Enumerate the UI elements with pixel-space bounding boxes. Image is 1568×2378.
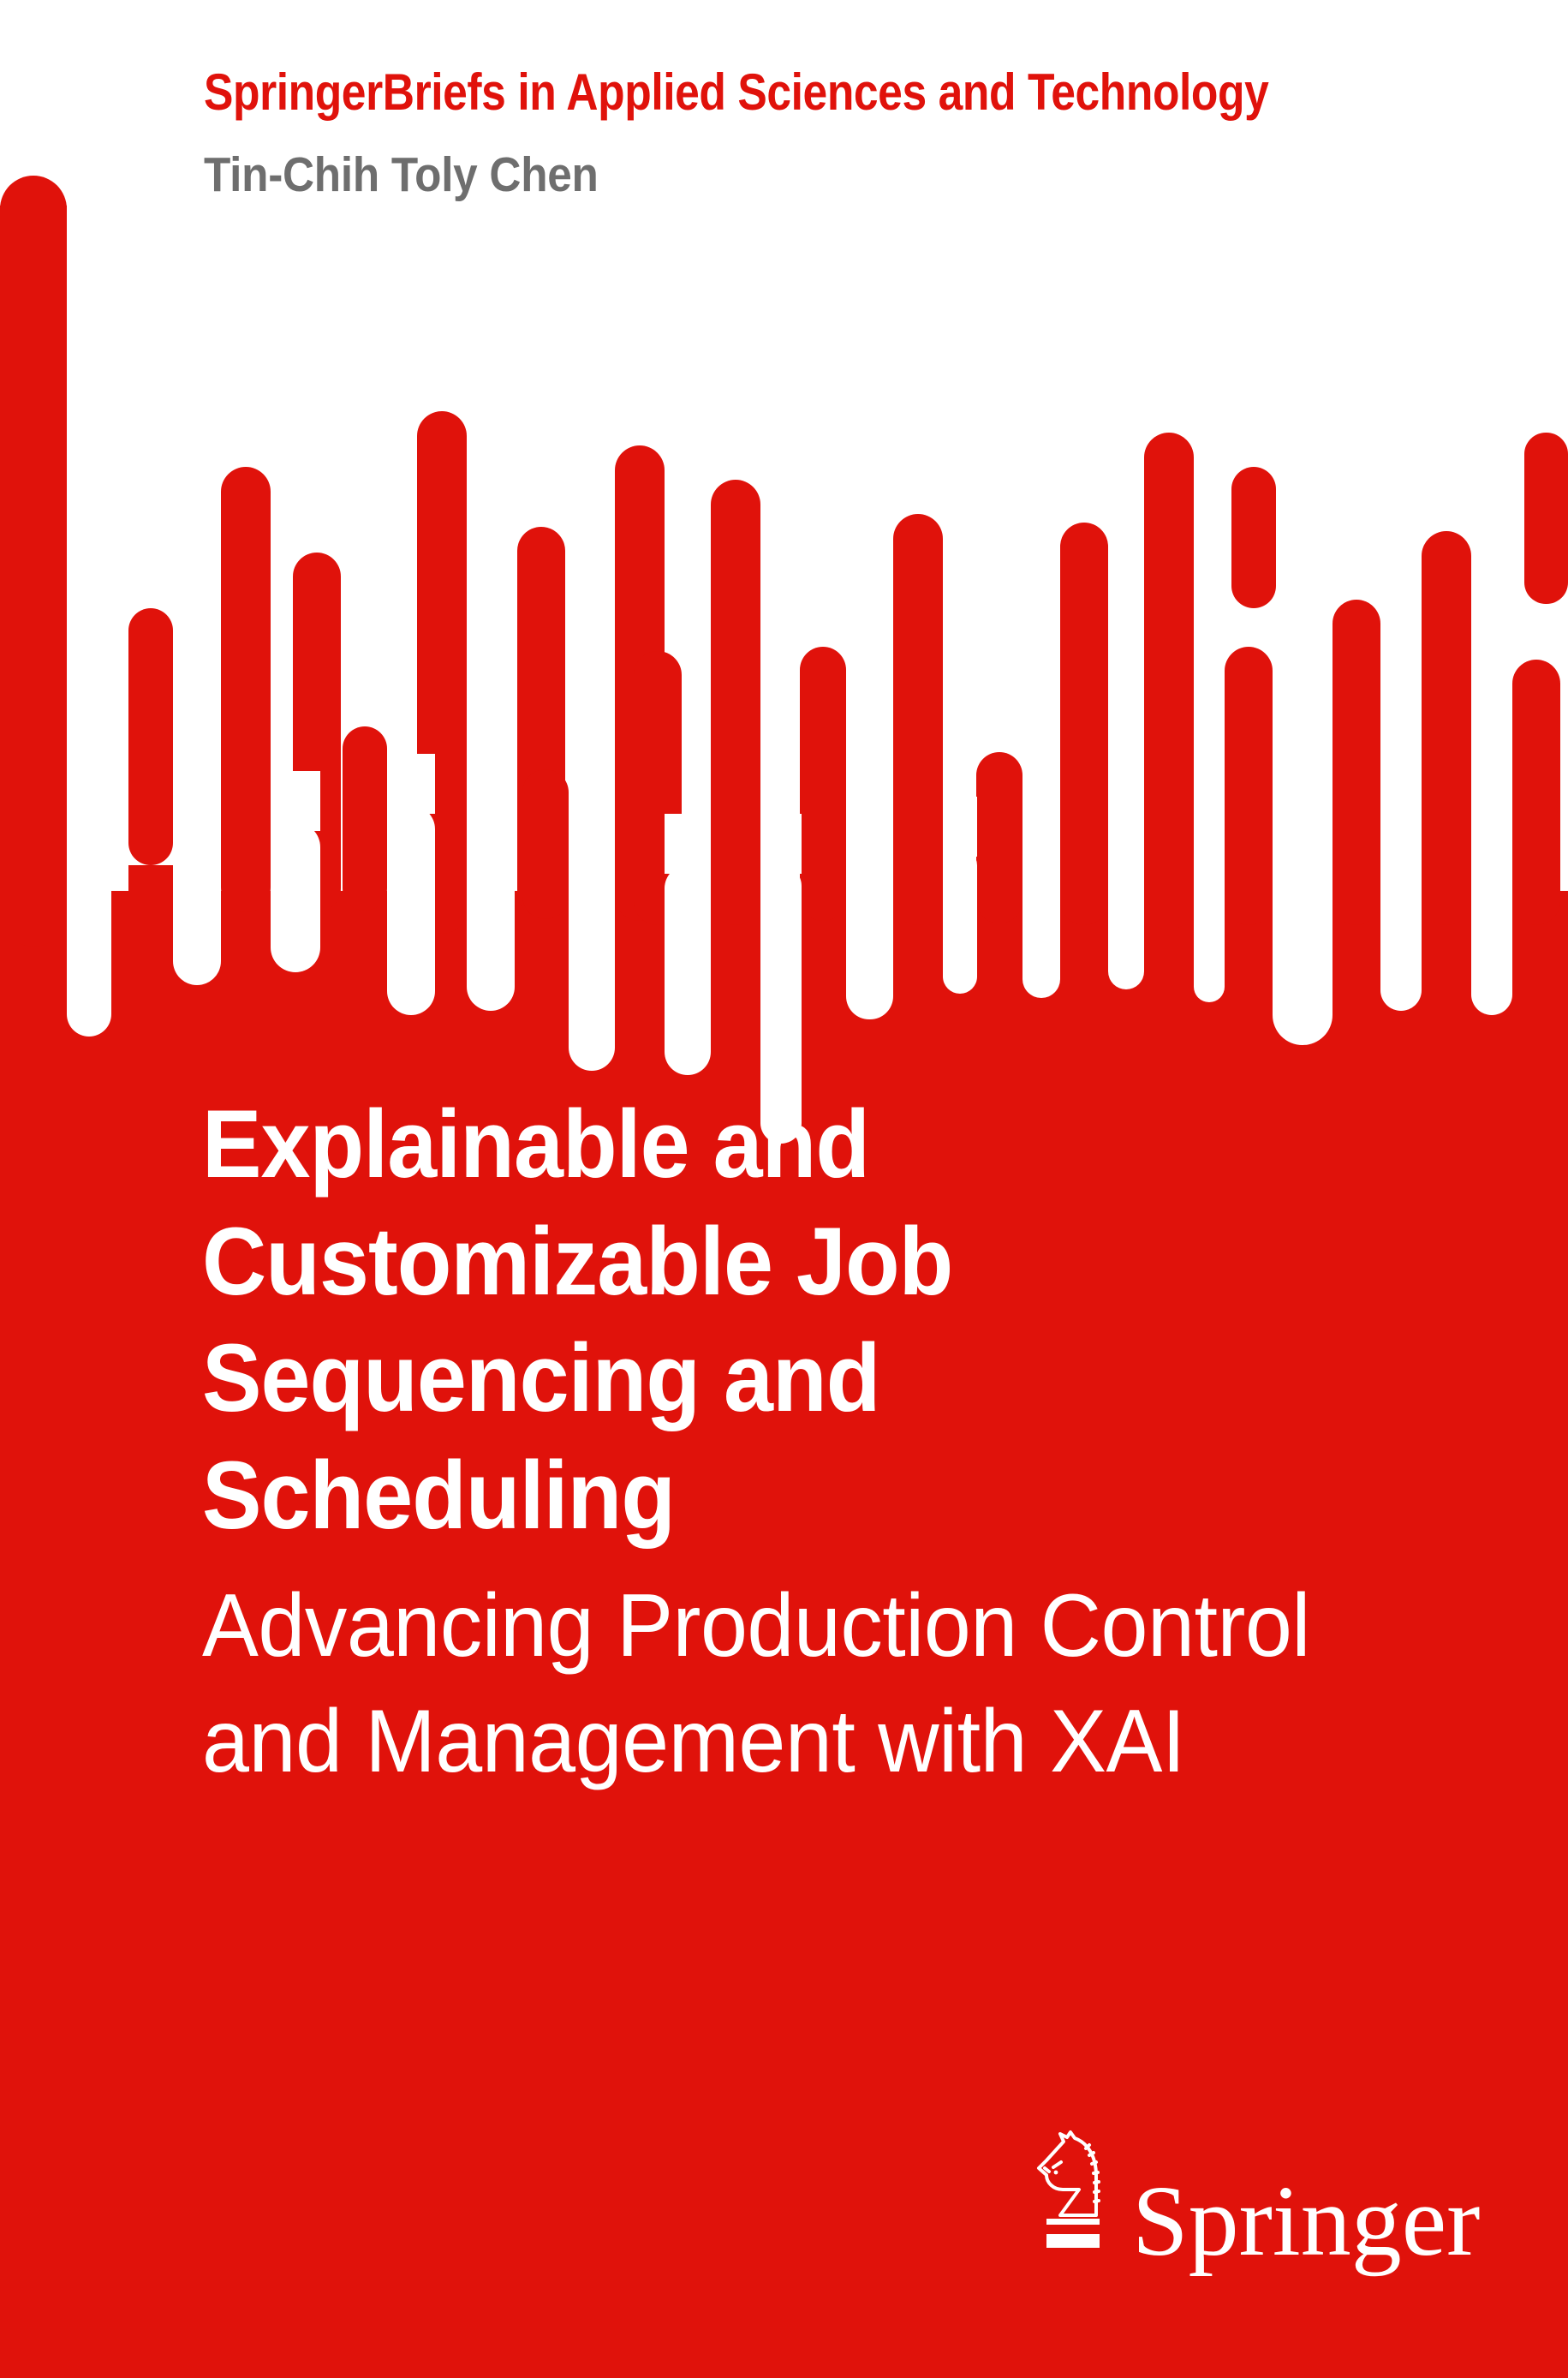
title-block: Explainable and Customizable Job Sequenc… (202, 1086, 1418, 1800)
publisher-name: Springer (1132, 2176, 1480, 2267)
series-title: SpringerBriefs in Applied Sciences and T… (204, 67, 1268, 118)
book-subtitle: Advancing Production Control and Managem… (202, 1568, 1357, 1800)
author-name: Tin-Chih Toly Chen (204, 151, 599, 200)
book-cover: SpringerBriefs in Applied Sciences and T… (0, 0, 1568, 2378)
book-title: Explainable and Customizable Job Sequenc… (202, 1086, 1333, 1555)
publisher-logo: Springer (1034, 2130, 1480, 2258)
springer-knight-icon (1034, 2130, 1113, 2258)
